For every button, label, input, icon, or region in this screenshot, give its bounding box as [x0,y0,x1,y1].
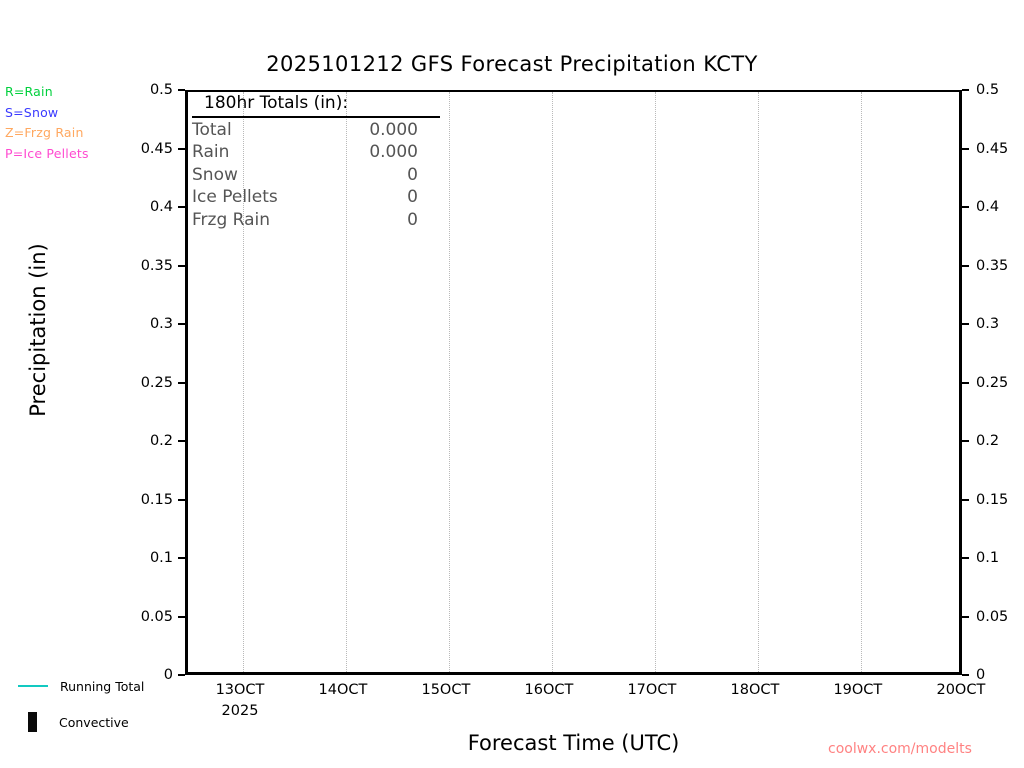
totals-row: Frzg Rain 0 [192,209,440,232]
x-tick-label-14oct: 14OCT [319,682,368,698]
y-tick-label-left: 0.35 [55,258,173,274]
x-tick-label-18oct: 18OCT [730,682,779,698]
totals-value-snow: 0 [407,164,440,187]
x-tick-label-20oct: 20OCT [936,682,985,698]
y-tick-label-right: 0.45 [976,141,1008,157]
totals-box-header: 180hr Totals (in): [192,92,440,118]
x-axis-year-label: 2025 [222,703,259,719]
totals-label-ice-pellets: Ice Pellets [192,186,278,209]
x-tick-label-15oct: 15OCT [421,682,470,698]
watermark: coolwx.com/modelts [828,741,972,757]
totals-value-total: 0.000 [369,119,440,142]
ptype-legend-item-snow: S=Snow [5,103,89,124]
totals-value-frzg-rain: 0 [407,209,440,232]
y-tick-label-left: 0.15 [55,492,173,508]
y-tick-mark-left [178,148,185,150]
y-tick-mark-right [962,616,969,618]
y-tick-label-left: 0.1 [55,550,173,566]
y-tick-label-left: 0.4 [55,199,173,215]
y-tick-mark-left [178,557,185,559]
y-tick-mark-right [962,499,969,501]
y-axis-title: Precipitation (in) [26,170,50,490]
y-tick-mark-left [178,89,185,91]
y-tick-label-right: 0.25 [976,375,1008,391]
series-legend: Running Total Convective [14,668,144,740]
totals-value-rain: 0.000 [369,141,440,164]
y-tick-mark-left [178,674,185,676]
y-tick-mark-left [178,440,185,442]
y-tick-mark-left [178,499,185,501]
totals-row: Total 0.000 [192,119,440,142]
gridline-19oct [861,92,863,672]
x-tick-label-19oct: 19OCT [833,682,882,698]
y-tick-label-left: 0.25 [55,375,173,391]
totals-row: Snow 0 [192,164,440,187]
y-tick-label-right: 0.1 [976,550,999,566]
totals-label-rain: Rain [192,141,229,164]
y-tick-label-right: 0.35 [976,258,1008,274]
y-tick-mark-left [178,265,185,267]
y-tick-label-right: 0.3 [976,316,999,332]
y-tick-mark-right [962,89,969,91]
y-tick-label-right: 0.05 [976,609,1008,625]
y-tick-label-right: 0 [976,667,985,683]
legend-item-running-total: Running Total [14,668,144,704]
y-tick-label-left: 0.5 [55,82,173,98]
y-tick-label-left: 0.05 [55,609,173,625]
y-tick-mark-right [962,440,969,442]
gridline-16oct [552,92,554,672]
y-tick-label-right: 0.2 [976,433,999,449]
totals-label-snow: Snow [192,164,238,187]
legend-item-convective: Convective [14,704,144,740]
totals-box: 180hr Totals (in): Total 0.000 Rain 0.00… [192,92,440,232]
y-tick-label-right: 0.4 [976,199,999,215]
running-total-swatch-icon [18,685,48,687]
legend-label-running-total: Running Total [60,679,144,694]
y-tick-label-left: 0.2 [55,433,173,449]
x-tick-label-16oct: 16OCT [525,682,574,698]
y-tick-mark-left [178,382,185,384]
y-tick-mark-left [178,206,185,208]
y-tick-label-right: 0.15 [976,492,1008,508]
legend-label-convective: Convective [59,715,129,730]
y-tick-mark-right [962,148,969,150]
gridline-18oct [758,92,760,672]
totals-row: Ice Pellets 0 [192,186,440,209]
y-tick-label-right: 0.5 [976,82,999,98]
gridline-15oct [449,92,451,672]
y-tick-label-left: 0.3 [55,316,173,332]
y-tick-mark-right [962,674,969,676]
totals-label-total: Total [192,119,232,142]
y-tick-mark-left [178,616,185,618]
totals-row: Rain 0.000 [192,141,440,164]
y-tick-mark-left [178,323,185,325]
gridline-17oct [655,92,657,672]
y-tick-mark-right [962,323,969,325]
totals-value-ice-pellets: 0 [407,186,440,209]
convective-swatch-icon [28,712,37,732]
y-tick-label-left: 0.45 [55,141,173,157]
y-tick-mark-right [962,557,969,559]
x-tick-label-13oct: 13OCT [216,682,265,698]
totals-label-frzg-rain: Frzg Rain [192,209,270,232]
y-tick-mark-right [962,265,969,267]
x-tick-label-17oct: 17OCT [627,682,676,698]
chart-title: 2025101212 GFS Forecast Precipitation KC… [0,52,1024,76]
y-tick-mark-right [962,382,969,384]
y-tick-mark-right [962,206,969,208]
